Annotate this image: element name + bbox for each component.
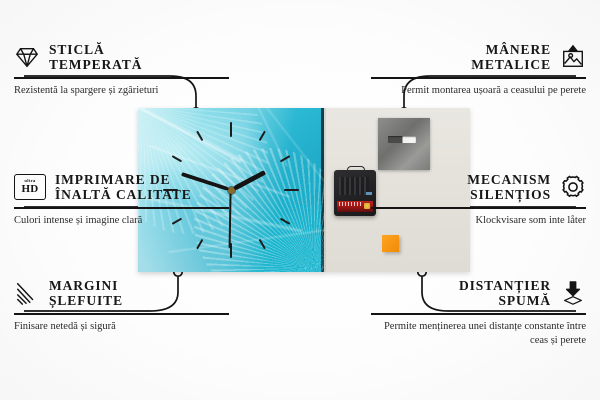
callout-sticla-temperata: STICLĂ TEMPERATĂ Rezistentă la spargere … xyxy=(14,42,229,98)
ultra-hd-main-text: HD xyxy=(21,184,38,195)
divider xyxy=(14,207,229,209)
ultra-hd-icon: ultra HD xyxy=(14,174,46,200)
clock-hour-hand xyxy=(230,170,266,192)
clock-second-hand xyxy=(229,190,232,248)
clock-tick xyxy=(230,122,232,137)
clock-tick xyxy=(284,189,299,191)
clock-tick xyxy=(172,155,183,162)
gear-icon xyxy=(560,174,586,200)
callout-mecanism-silentios: MECANISM SILENȚIOS Klockvisare som inte … xyxy=(371,172,586,228)
divider xyxy=(371,207,586,209)
callout-title: STICLĂ TEMPERATĂ xyxy=(49,42,142,72)
infographic-canvas: STICLĂ TEMPERATĂ Rezistentă la spargere … xyxy=(0,0,600,400)
callout-distantier-spuma: DISTANȚIER SPUMĂ Permite menținerea unei… xyxy=(371,278,586,348)
divider xyxy=(14,313,229,315)
clock-tick xyxy=(259,131,266,142)
callout-title: DISTANȚIER SPUMĂ xyxy=(459,278,551,308)
clock-tick xyxy=(259,239,266,250)
mechanism-hook xyxy=(347,166,365,173)
divider xyxy=(371,77,586,79)
hanger-keyhole-slot xyxy=(388,136,416,143)
battery-terminal xyxy=(364,203,370,209)
callout-manere-metalice: MÂNERE METALICE Permit montarea ușoară a… xyxy=(371,42,586,98)
callout-description: Permit montarea ușoară a ceasului pe per… xyxy=(371,84,586,98)
down-arrow-stack-icon xyxy=(560,280,586,306)
callout-description: Finisare netedă și sigură xyxy=(14,320,229,334)
callout-description: Permite menținerea unei distanțe constan… xyxy=(371,320,586,348)
battery xyxy=(337,201,373,212)
diamond-icon xyxy=(14,44,40,70)
callout-description: Klockvisare som inte låter xyxy=(371,214,586,228)
callout-description: Rezistentă la spargere și zgârieturi xyxy=(14,84,229,98)
callout-description: Culori intense și imagine clară xyxy=(14,214,229,228)
metal-hanger-plate xyxy=(378,118,430,170)
clock-tick xyxy=(196,131,203,142)
battery-label xyxy=(339,202,363,206)
callout-margini-slefuite: MARGINI ȘLEFUITE Finisare netedă și sigu… xyxy=(14,278,229,334)
mechanism-label xyxy=(339,177,369,195)
callout-title: MECANISM SILENȚIOS xyxy=(467,172,551,202)
polished-edge-icon xyxy=(14,280,40,306)
foam-spacer xyxy=(382,235,399,252)
clock-tick xyxy=(196,239,203,250)
quartz-mechanism xyxy=(334,170,376,216)
callout-title: MARGINI ȘLEFUITE xyxy=(49,278,123,308)
clock-tick xyxy=(280,218,291,225)
clock-tick xyxy=(280,155,291,162)
callout-imprimare-inalta-calitate: ultra HD IMPRIMARE DE ÎNALTĂ CALITATE Cu… xyxy=(14,172,229,228)
picture-frame-hanger-icon xyxy=(560,44,586,70)
divider xyxy=(14,77,229,79)
callout-title: MÂNERE METALICE xyxy=(471,42,551,72)
divider xyxy=(371,313,586,315)
callout-title: IMPRIMARE DE ÎNALTĂ CALITATE xyxy=(55,172,192,202)
